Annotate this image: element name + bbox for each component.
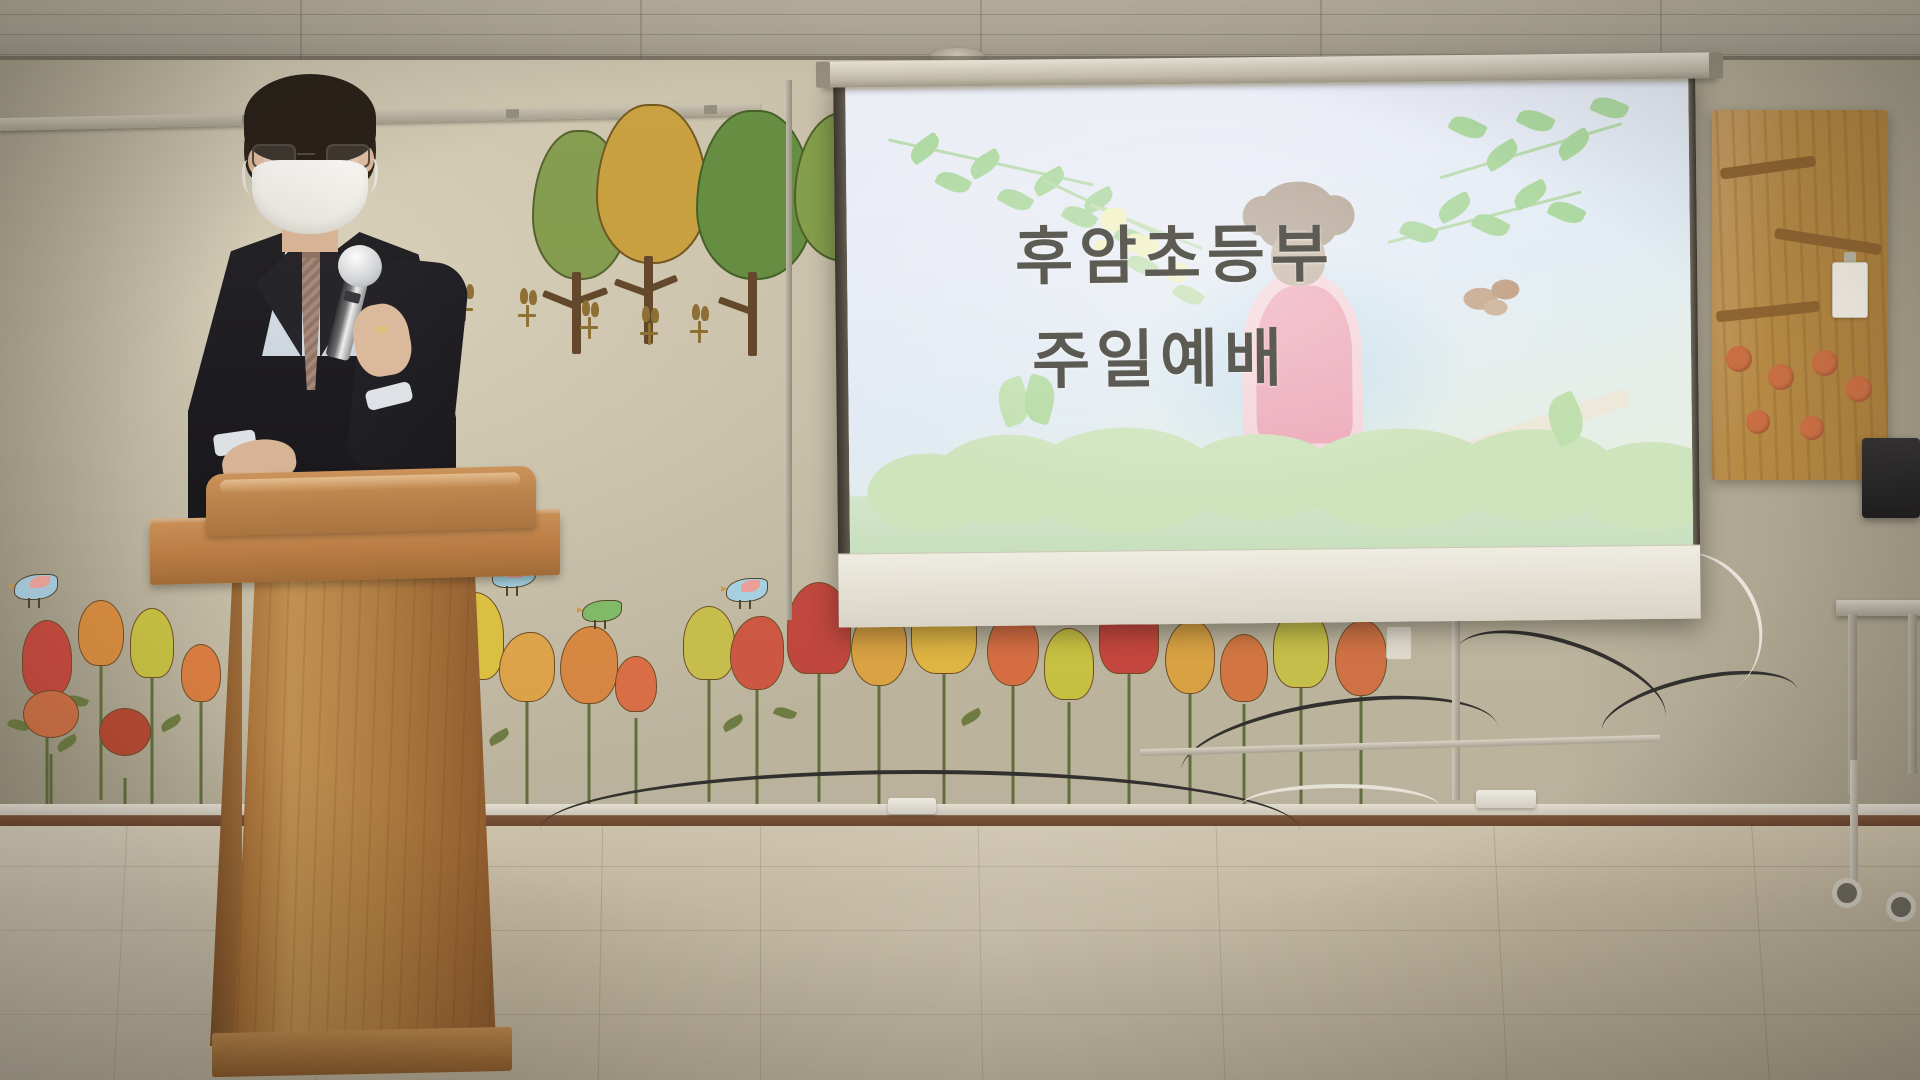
table-leg <box>1908 614 1917 774</box>
podium-base <box>212 1027 512 1077</box>
cart-wheel <box>1832 878 1862 908</box>
cart-post <box>1850 760 1858 890</box>
face-mask <box>252 160 368 234</box>
wall-outlet[interactable] <box>1386 626 1412 660</box>
wooden-podium <box>150 470 570 1080</box>
mural-sprout-icon <box>580 300 600 340</box>
mural-bird-icon <box>726 578 768 602</box>
photo-scene: 후암초등부 주일예배 <box>0 0 1920 1080</box>
floor-cable-white <box>1240 784 1440 830</box>
slide-title-line-2: 주일예배 <box>1032 304 1692 402</box>
power-strip[interactable] <box>1476 790 1536 808</box>
slide-title-line-1: 후암초등부 <box>1014 200 1690 298</box>
screen-support-bar <box>786 80 792 620</box>
mural-sprout-icon <box>690 304 710 344</box>
mural-bird-icon <box>582 600 622 622</box>
mural-sprout-icon <box>640 306 660 346</box>
screen-bottom-bar <box>838 544 1701 627</box>
floor-cable <box>540 770 1300 890</box>
screen-support-bar <box>1452 620 1460 800</box>
projection-screen[interactable]: 후암초등부 주일예배 <box>833 74 1701 628</box>
av-device[interactable] <box>1862 438 1920 518</box>
mural-bird-icon <box>14 574 58 600</box>
power-strip[interactable] <box>888 798 936 814</box>
wedding-ring-icon <box>376 326 388 333</box>
cart-wheel <box>1886 892 1916 922</box>
projected-slide: 후암초등부 주일예배 <box>845 82 1693 555</box>
mural-sprout-icon <box>518 288 538 328</box>
podium-column <box>234 574 496 1044</box>
wall-card <box>1832 262 1868 318</box>
